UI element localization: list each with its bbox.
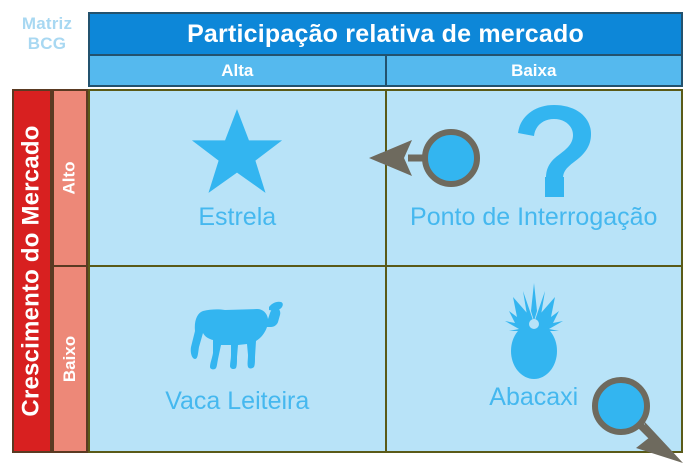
star-icon <box>191 103 283 199</box>
question-mark-icon <box>476 103 592 199</box>
diagram-caption: Matriz BCG <box>8 14 86 54</box>
row-axis-categories: Alto Baixo <box>52 89 88 453</box>
row-axis-title: Crescimento do Mercado <box>12 89 52 453</box>
row-category-baixo: Baixo <box>54 267 86 451</box>
row-axis-title-text: Crescimento do Mercado <box>18 125 46 416</box>
cow-icon <box>185 287 289 383</box>
quadrant-dog-label: Abacaxi <box>489 383 578 412</box>
quadrant-grid: Estrela Ponto de Interrogação <box>88 89 683 453</box>
quadrant-star-label: Estrela <box>198 203 276 232</box>
diagram-caption-line2: BCG <box>8 34 86 54</box>
column-axis-categories: Alta Baixa <box>88 56 683 87</box>
quadrant-dog: Abacaxi <box>387 267 682 451</box>
diagram-caption-line1: Matriz <box>8 14 86 34</box>
quadrant-question-mark-label: Ponto de Interrogação <box>410 203 657 232</box>
row-category-baixo-text: Baixo <box>60 336 80 382</box>
quadrant-cash-cow: Vaca Leiteira <box>90 267 385 451</box>
column-category-alta: Alta <box>90 56 387 85</box>
quadrant-star: Estrela <box>90 91 385 265</box>
column-category-baixa: Baixa <box>387 56 682 85</box>
quadrant-question-mark: Ponto de Interrogação <box>387 91 682 265</box>
bcg-matrix-diagram: Matriz BCG Participação relativa de merc… <box>0 0 695 466</box>
row-category-alto: Alto <box>54 91 86 267</box>
pineapple-icon <box>501 283 567 379</box>
row-category-alto-text: Alto <box>60 161 80 194</box>
column-axis-title: Participação relativa de mercado <box>88 12 683 56</box>
quadrant-cash-cow-label: Vaca Leiteira <box>165 387 309 416</box>
